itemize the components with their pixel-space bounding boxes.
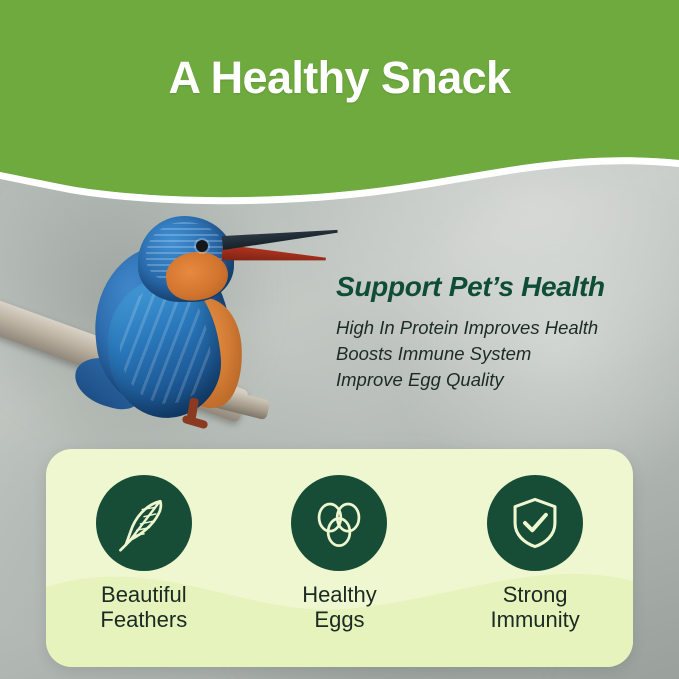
feature-label-line2: Eggs <box>314 607 364 632</box>
pitch-title: Support Pet’s Health <box>336 272 666 303</box>
pitch-bullet-list: High In Protein Improves Health Boosts I… <box>336 315 666 394</box>
feature-label-beautiful-feathers: Beautiful Feathers <box>55 583 233 632</box>
feather-icon <box>115 494 173 552</box>
shield-check-icon-badge <box>487 475 583 571</box>
feature-label-healthy-eggs: Healthy Eggs <box>250 583 428 632</box>
pitch-bullet-3: Improve Egg Quality <box>336 367 666 393</box>
pitch-block: Support Pet’s Health High In Protein Imp… <box>336 272 666 394</box>
pitch-bullet-1: High In Protein Improves Health <box>336 315 666 341</box>
feature-strong-immunity: Strong Immunity <box>446 475 624 632</box>
bird-beak-upper <box>222 224 339 250</box>
feature-healthy-eggs: Healthy Eggs <box>250 475 428 632</box>
kingfisher-bird <box>0 190 360 490</box>
bird-beak-lower <box>222 244 327 267</box>
feature-label-line2: Feathers <box>100 607 187 632</box>
header-band: A Healthy Snack <box>0 0 679 215</box>
eggs-icon-badge <box>291 475 387 571</box>
product-infographic: A Healthy Snack Support Pet’s Health Hig… <box>0 0 679 679</box>
feature-label-line1: Healthy <box>302 582 377 607</box>
feature-label-line1: Strong <box>503 582 568 607</box>
feature-list: Beautiful Feathers Healthy Eggs <box>46 449 633 667</box>
feature-panel: Beautiful Feathers Healthy Eggs <box>46 449 633 667</box>
feature-label-line2: Immunity <box>491 607 580 632</box>
feature-label-line1: Beautiful <box>101 582 187 607</box>
feature-beautiful-feathers: Beautiful Feathers <box>55 475 233 632</box>
feature-label-strong-immunity: Strong Immunity <box>446 583 624 632</box>
feather-icon-badge <box>96 475 192 571</box>
pitch-bullet-2: Boosts Immune System <box>336 341 666 367</box>
page-title: A Healthy Snack <box>0 52 679 104</box>
shield-check-icon <box>506 494 564 552</box>
eggs-icon <box>310 494 368 552</box>
bird-eye <box>196 240 208 252</box>
